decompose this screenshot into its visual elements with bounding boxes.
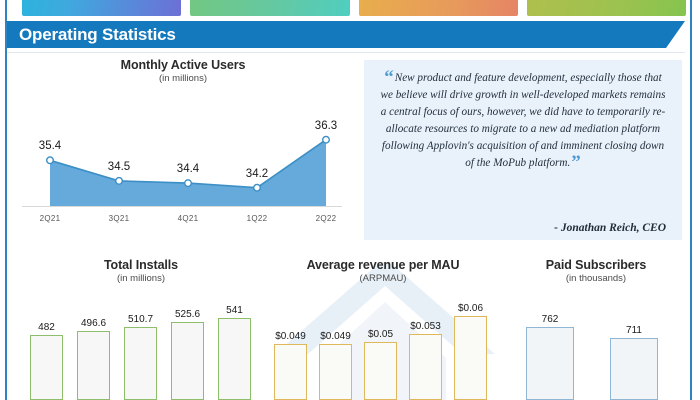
mau-value-label: 34.2: [246, 168, 268, 180]
mau-data-point: [323, 136, 330, 143]
bar-value-label: 541: [226, 305, 243, 316]
bar-value-label: 482: [38, 322, 55, 333]
quote-text-content: New product and feature development, esp…: [380, 72, 665, 169]
bar-value-label: $0.06: [458, 303, 483, 314]
arpmau-chart-title: Average revenue per MAU: [266, 258, 500, 272]
mau-data-point: [116, 178, 123, 185]
quote-close-mark: ”: [571, 152, 581, 173]
mau-value-label: 34.5: [108, 161, 130, 173]
mau-plot-area: 35.434.534.434.236.32Q213Q214Q211Q222Q22: [18, 92, 348, 238]
mau-category-label: 3Q21: [109, 214, 130, 223]
mau-value-label: 35.4: [39, 140, 61, 152]
chart-paid-subscribers: Paid Subscribers (in thousands) 762711: [506, 258, 686, 400]
installs-plot-area: 482496.6510.7525.6541: [18, 294, 264, 400]
bar-value-label: 711: [626, 325, 642, 336]
bar-value-label: $0.053: [410, 321, 441, 332]
bar-column: [526, 327, 574, 400]
quote-body: “New product and feature development, es…: [378, 70, 668, 172]
kpi-card-4: +23%: [527, 0, 686, 16]
bar-column: [319, 344, 352, 400]
mau-category-label: 2Q21: [40, 214, 61, 223]
bar-column: [364, 342, 397, 400]
mau-value-label: 36.3: [315, 120, 337, 132]
arpmau-chart-subtitle: (ARPMAU): [266, 273, 500, 284]
bar-column: [610, 338, 658, 400]
kpi-card-4-value: +23%: [589, 0, 623, 3]
bar-value-label: $0.05: [368, 329, 393, 340]
kpi-card-2-value: +20%: [253, 0, 287, 3]
installs-chart-subtitle: (in millions): [18, 273, 264, 284]
subs-chart-subtitle: (in thousands): [506, 273, 686, 284]
installs-chart-title: Total Installs: [18, 258, 264, 272]
bar-column: [77, 331, 110, 400]
mau-data-point: [185, 180, 192, 187]
bar-column: [30, 335, 63, 400]
bar-value-label: $0.049: [320, 331, 351, 342]
mau-data-point: [47, 157, 54, 164]
subs-chart-title: Paid Subscribers: [506, 258, 686, 272]
mau-category-label: 1Q22: [247, 214, 268, 223]
chart-monthly-active-users: Monthly Active Users (in millions) 35.43…: [18, 58, 348, 238]
bar-column: [409, 334, 442, 400]
kpi-card-3-value: -6%: [426, 0, 450, 3]
kpi-card-1-value: +36%: [84, 0, 118, 3]
bar-column: [218, 318, 251, 400]
mau-chart-title: Monthly Active Users: [18, 58, 348, 72]
kpi-card-3: -6%: [359, 0, 518, 16]
kpi-card-1: +36%: [22, 0, 181, 16]
mau-value-label: 34.4: [177, 163, 199, 175]
mau-category-label: 4Q21: [178, 214, 199, 223]
section-banner-shape: Operating Statistics: [7, 21, 685, 48]
bar-column: [274, 344, 307, 400]
bar-column: [454, 316, 487, 400]
chart-total-installs: Total Installs (in millions) 482496.6510…: [18, 258, 264, 400]
mau-category-label: 2Q22: [316, 214, 337, 223]
chart-arpmau: Average revenue per MAU (ARPMAU) $0.049$…: [266, 258, 500, 400]
bar-column: [124, 327, 157, 400]
quote-open-mark: “: [384, 67, 394, 88]
bar-column: [171, 322, 204, 400]
right-border-rule: [690, 0, 692, 400]
bar-value-label: $0.049: [275, 331, 306, 342]
bar-value-label: 525.6: [175, 309, 200, 320]
section-banner: Operating Statistics: [7, 21, 685, 48]
kpi-card-2: +20%: [190, 0, 349, 16]
kpi-card-strip: +36% +20% -6% +23%: [22, 0, 686, 16]
bar-value-label: 496.6: [81, 318, 106, 329]
mau-chart-subtitle: (in millions): [18, 73, 348, 84]
mau-data-point: [254, 184, 261, 191]
ceo-quote-panel: “New product and feature development, es…: [364, 60, 682, 240]
bar-value-label: 762: [542, 314, 559, 325]
arpmau-plot-area: $0.049$0.049$0.05$0.053$0.06: [266, 294, 500, 400]
quote-attribution: - Jonathan Reich, CEO: [554, 222, 666, 234]
bar-value-label: 510.7: [128, 314, 153, 325]
section-title: Operating Statistics: [7, 25, 176, 45]
subs-plot-area: 762711: [506, 294, 686, 400]
banner-underline: [7, 52, 685, 53]
left-border-rule: [5, 0, 7, 400]
